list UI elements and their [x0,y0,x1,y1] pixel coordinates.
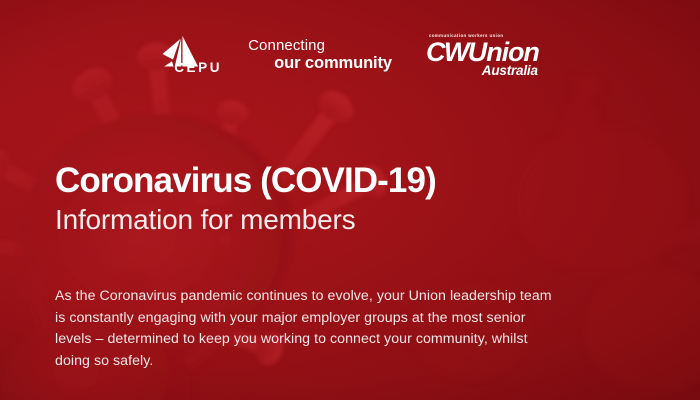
cwunion-micro-text: communication workers union [429,34,539,38]
covid-information-banner: CEPU Connecting our community communicat… [0,0,700,400]
headline-block: Coronavirus (COVID-19) Information for m… [55,163,660,236]
cepu-wordmark: CEPU [174,61,222,78]
tagline-line-2: our community [274,55,392,73]
cwunion-wordmark-cw: CW [426,37,468,67]
cwunion-logo: communication workers union CWUnion Aust… [426,34,539,78]
page-subtitle: Information for members [55,203,660,236]
page-title: Coronavirus (COVID-19) [55,163,660,198]
tagline-line-1: Connecting [248,38,392,54]
logo-strip: CEPU Connecting our community communicat… [0,28,700,84]
body-paragraph: As the Coronavirus pandemic continues to… [55,286,560,372]
cepu-tagline: Connecting our community [248,38,392,75]
cwunion-wordmark: CWUnion [426,39,539,66]
cepu-logo: CEPU [161,35,222,77]
